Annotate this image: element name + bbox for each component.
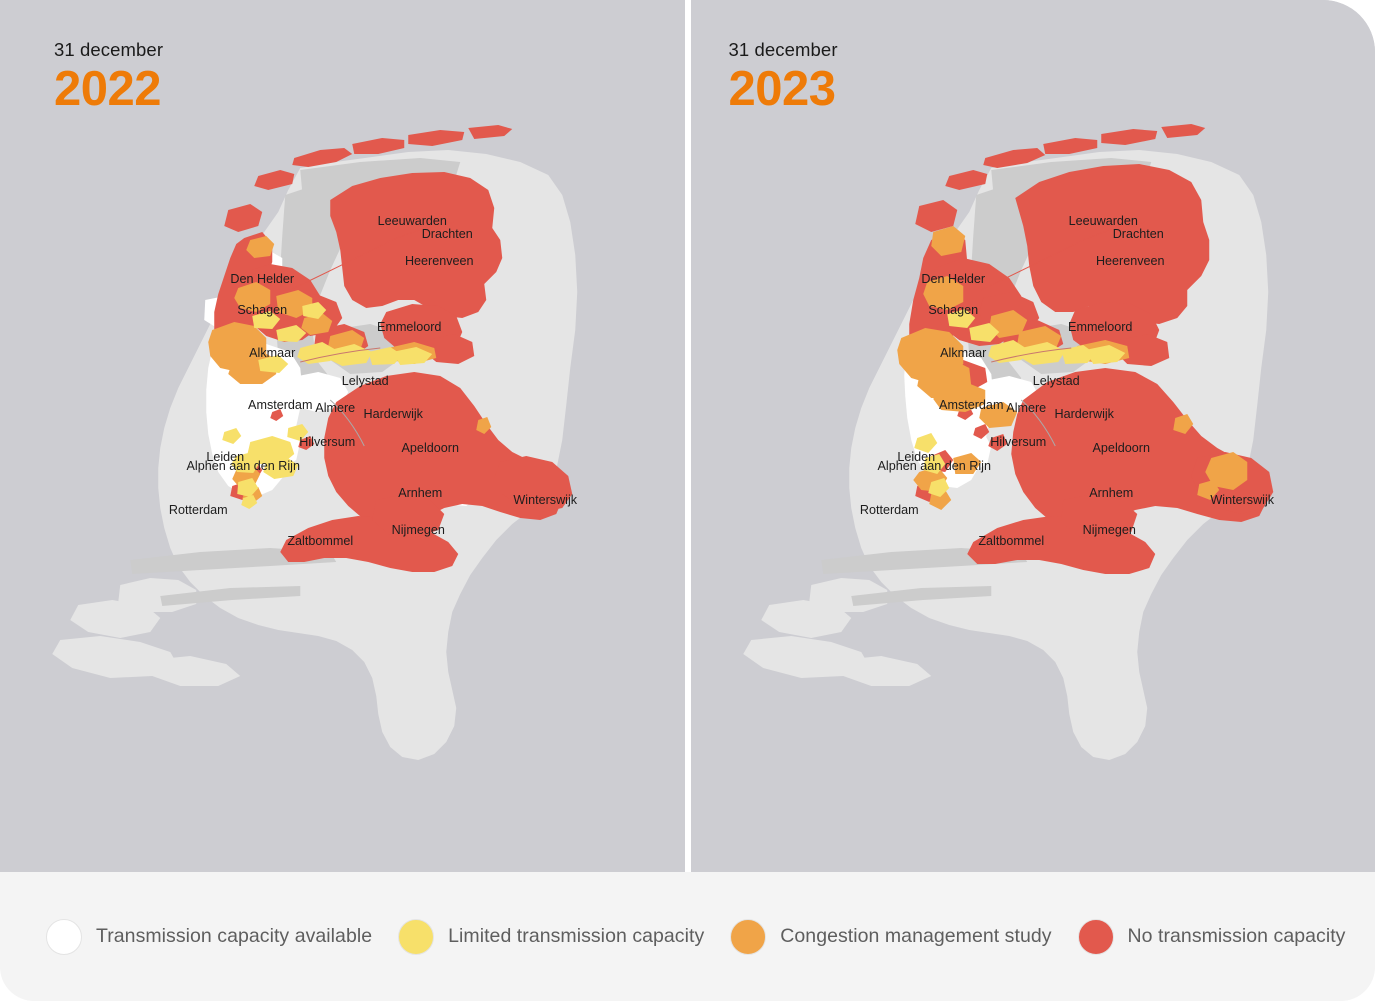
legend-label-limited: Limited transmission capacity (448, 925, 704, 948)
circle-white-icon (46, 919, 82, 955)
label-zaltbommel: Zaltbommel (978, 534, 1044, 548)
label-nijmegen: Nijmegen (392, 523, 445, 537)
label-alphen: Alphen aan den Rijn (877, 459, 990, 473)
legend-item-study[interactable]: Congestion management study (730, 919, 1051, 955)
netherlands-map-2023[interactable]: Leeuwarden Drachten Heerenveen Den Helde… (691, 0, 1375, 872)
label-rotterdam: Rotterdam (859, 503, 918, 517)
label-almere: Almere (315, 401, 355, 415)
label-harderwijk: Harderwijk (364, 407, 424, 421)
label-leeuwarden: Leeuwarden (1068, 214, 1137, 228)
label-almere: Almere (1006, 401, 1046, 415)
label-hilversum: Hilversum (299, 435, 355, 449)
label-alphen: Alphen aan den Rijn (187, 459, 300, 473)
label-heerenveen: Heerenveen (1095, 254, 1164, 268)
label-schagen: Schagen (237, 303, 287, 317)
label-leeuwarden: Leeuwarden (378, 214, 447, 228)
circle-red-icon (1078, 919, 1114, 955)
label-amsterdam: Amsterdam (248, 398, 312, 412)
legend-items: Transmission capacity available Limited … (0, 919, 1345, 955)
label-lelystad: Lelystad (342, 374, 389, 388)
map-panel-2022[interactable]: 31 december 2022 (0, 0, 685, 872)
legend-label-none: No transmission capacity (1128, 925, 1346, 948)
infographic-root: 31 december 2022 (0, 0, 1375, 1001)
label-heerenveen: Heerenveen (405, 254, 474, 268)
label-apeldoorn: Apeldoorn (1092, 441, 1149, 455)
label-den-helder: Den Helder (921, 272, 985, 286)
legend-label-available: Transmission capacity available (96, 925, 372, 948)
label-arnhem: Arnhem (1089, 486, 1133, 500)
label-nijmegen: Nijmegen (1082, 523, 1135, 537)
label-emmeloord: Emmeloord (1068, 320, 1132, 334)
label-alkmaar: Alkmaar (940, 346, 986, 360)
label-arnhem: Arnhem (398, 486, 442, 500)
map-panel-2023[interactable]: 31 december 2023 (691, 0, 1375, 872)
label-apeldoorn: Apeldoorn (402, 441, 459, 455)
label-drachten: Drachten (1112, 227, 1163, 241)
legend-item-available[interactable]: Transmission capacity available (46, 919, 372, 955)
circle-orange-icon (730, 919, 766, 955)
legend-label-study: Congestion management study (780, 925, 1051, 948)
netherlands-map-2022[interactable]: Leeuwarden Drachten Heerenveen Den Helde… (0, 0, 685, 872)
label-alkmaar: Alkmaar (249, 346, 295, 360)
circle-yellow-icon (398, 919, 434, 955)
label-winterswijk: Winterswijk (1210, 493, 1274, 507)
label-harderwijk: Harderwijk (1054, 407, 1114, 421)
label-zaltbommel: Zaltbommel (287, 534, 353, 548)
label-schagen: Schagen (928, 303, 978, 317)
map-svg-2022: Leeuwarden Drachten Heerenveen Den Helde… (0, 0, 685, 872)
legend-item-none[interactable]: No transmission capacity (1078, 919, 1346, 955)
label-drachten: Drachten (422, 227, 473, 241)
map-svg-2023: Leeuwarden Drachten Heerenveen Den Helde… (691, 0, 1375, 872)
label-amsterdam: Amsterdam (939, 398, 1003, 412)
label-hilversum: Hilversum (990, 435, 1046, 449)
label-winterswijk: Winterswijk (513, 493, 577, 507)
label-emmeloord: Emmeloord (377, 320, 441, 334)
legend-item-limited[interactable]: Limited transmission capacity (398, 919, 704, 955)
map-panels: 31 december 2022 (0, 0, 1375, 872)
label-den-helder: Den Helder (230, 272, 294, 286)
legend-bar: Transmission capacity available Limited … (0, 872, 1375, 1001)
label-rotterdam: Rotterdam (169, 503, 228, 517)
label-lelystad: Lelystad (1032, 374, 1079, 388)
